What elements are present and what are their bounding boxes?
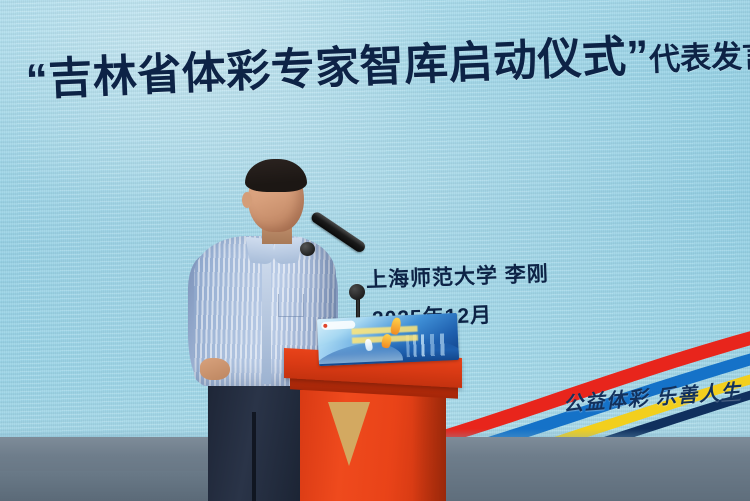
podium-gold-triangle-emblem xyxy=(328,402,370,466)
shirt-pocket xyxy=(278,294,304,317)
shirt-placket xyxy=(262,258,271,384)
lottery-logo-icon xyxy=(321,320,355,330)
red-podium xyxy=(276,330,476,501)
winter-sports-banner xyxy=(317,313,459,366)
microphone-head xyxy=(300,242,315,256)
microphone-joint xyxy=(349,284,365,300)
speaker-ear xyxy=(242,192,252,208)
speaker-hand xyxy=(200,358,230,380)
podium-body xyxy=(300,390,446,501)
trouser-seam xyxy=(252,412,256,501)
screenshot-root: “吉林省体彩专家智库启动仪式”代表发言 上海师范大学 李刚 2025年12月 公… xyxy=(0,0,750,501)
speaker-hair xyxy=(245,159,307,192)
speaker-affiliation-line: 上海师范大学 李刚 xyxy=(365,258,549,294)
headline-suffix: 代表发言 xyxy=(648,38,750,78)
podium-shading xyxy=(412,390,446,501)
